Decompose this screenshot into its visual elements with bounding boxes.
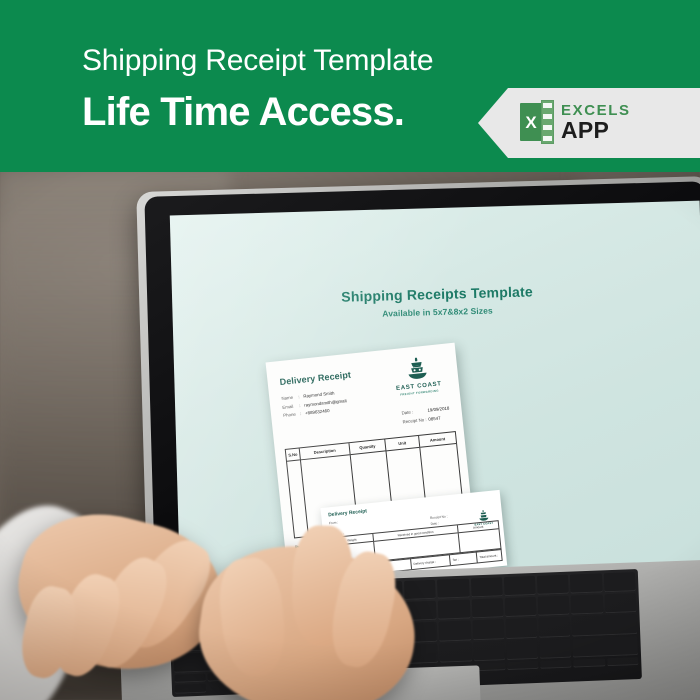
excel-icon-body: X: [520, 103, 542, 141]
key: [573, 636, 638, 658]
excels-app-logo[interactable]: X EXCELS APP: [520, 100, 631, 144]
key: [472, 620, 504, 640]
key: [570, 573, 602, 593]
key: [438, 600, 470, 620]
alt-cell-total: Total amount :: [477, 549, 502, 562]
key: [539, 617, 571, 637]
alt-cell-tax: Tax :: [450, 552, 478, 566]
logo-text-excels: EXCELS: [561, 103, 631, 118]
alt-cell-delivery-charge: Delivery charge :: [411, 554, 451, 569]
key: [574, 658, 606, 668]
key: [471, 577, 503, 597]
key: [506, 640, 538, 660]
receipt-fields: Name : Raymond Smith Email : raymondsmit…: [281, 388, 348, 420]
receipt-meta: Date : 19/09/2018 Receipt No : 08547: [401, 404, 451, 427]
alt-receipt-title: Delivery Receipt: [328, 508, 367, 518]
key: [437, 579, 469, 599]
logo-wordmark: EXCELS APP: [561, 103, 631, 142]
key: [505, 597, 537, 617]
sheet-row: [543, 103, 552, 108]
key: [175, 684, 207, 694]
key: [471, 598, 503, 618]
receipt-title: Delivery Receipt: [279, 370, 351, 387]
key: [604, 593, 636, 613]
banner-title: Shipping Receipt Template: [82, 44, 433, 78]
key: [571, 595, 603, 615]
sheet-row: [543, 114, 552, 119]
excel-icon-letter: X: [525, 114, 536, 131]
east-coast-brand: EAST COAST FREIGHT FORWARDING: [390, 354, 446, 397]
key: [538, 596, 570, 616]
key: [404, 580, 436, 600]
finger: [215, 555, 289, 679]
key: [473, 641, 505, 661]
key: [607, 657, 639, 667]
banner-subtitle: Life Time Access.: [82, 90, 404, 135]
promo-banner-image: Shipping Receipts Template Available in …: [0, 0, 700, 700]
header-banner: Shipping Receipt Template Life Time Acce…: [0, 0, 700, 172]
key: [539, 638, 571, 658]
key: [572, 614, 637, 636]
key: [174, 673, 206, 683]
excel-icon-sheet: [541, 100, 554, 144]
ship-icon: [403, 355, 432, 384]
sheet-row: [543, 136, 552, 141]
excel-file-icon: X: [520, 100, 554, 144]
logo-text-app: APP: [561, 119, 631, 142]
key: [505, 618, 537, 638]
key: [540, 659, 572, 669]
sheet-row: [543, 125, 552, 130]
laptop-photo-scene: Shipping Receipts Template Available in …: [0, 170, 700, 700]
key: [504, 576, 536, 596]
key: [507, 661, 539, 671]
key: [604, 572, 636, 592]
key: [537, 575, 569, 595]
laptop-screen: Shipping Receipts Template Available in …: [170, 201, 700, 598]
key: [440, 642, 472, 662]
key: [439, 621, 471, 641]
